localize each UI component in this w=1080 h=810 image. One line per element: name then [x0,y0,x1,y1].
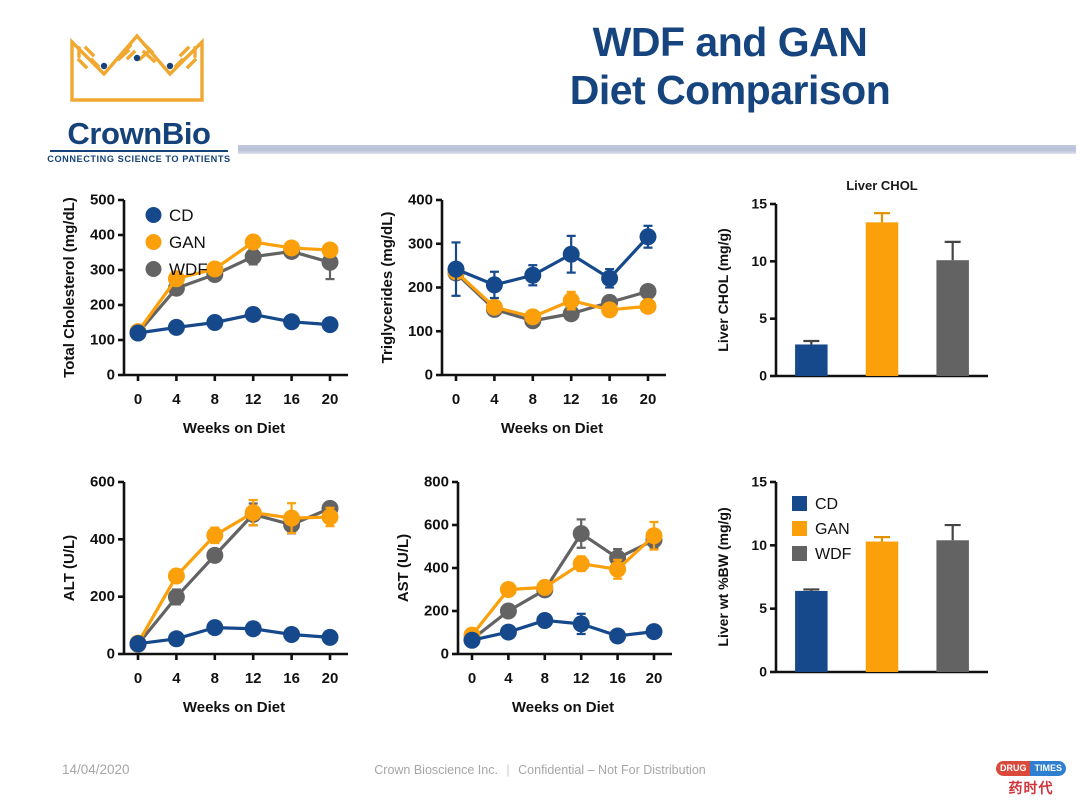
title-line-2: Diet Comparison [420,66,1040,114]
data-point [206,314,223,331]
chart-triglycerides: 0100200300400Triglycerides (mg/dL)048121… [376,186,676,441]
chart-total-cholesterol: 0100200300400500Total Cholesterol (mg/dL… [58,186,358,441]
logo-tagline: CONNECTING SCIENCE TO PATIENTS [30,154,248,164]
x-tick-label: 20 [640,391,657,408]
line-CD [456,237,648,285]
watermark-chinese: 药时代 [988,778,1074,798]
line-WDF [138,508,330,644]
x-tick-label: 16 [609,670,626,687]
data-point [245,248,262,265]
data-point [245,306,262,323]
data-point [322,629,339,646]
data-point [640,283,657,300]
data-point [206,260,223,277]
y-tick-label: 10 [751,537,767,553]
legend-swatch-WDF [792,546,807,561]
data-point [245,620,262,637]
y-tick-label: 0 [441,646,449,663]
line-GAN [456,272,648,317]
x-tick-label: 4 [172,670,181,687]
page-title: WDF and GAN Diet Comparison [420,18,1040,115]
crown-icon [62,22,212,117]
line-CD [138,314,330,333]
data-point [640,298,657,315]
x-tick-label: 12 [245,391,262,408]
y-tick-label: 600 [90,474,115,491]
footer-separator: | [506,763,509,777]
drugtimes-watermark: DRUGTIMES 药时代 [988,758,1074,798]
y-tick-label: 400 [424,560,449,577]
data-point [609,627,626,644]
x-tick-label: 16 [601,391,618,408]
plot-total-cholesterol: 0100200300400500Total Cholesterol (mg/dL… [58,186,358,441]
data-point [206,527,223,544]
title-line-1: WDF and GAN [420,18,1040,66]
data-point [563,246,580,263]
data-point [283,626,300,643]
data-point [283,510,300,527]
line-GAN [138,513,330,643]
legend-label-GAN: GAN [169,233,206,252]
y-tick-label: 400 [90,531,115,548]
data-point [573,555,590,572]
data-point [486,299,503,316]
x-tick-label: 0 [452,391,460,408]
x-tick-label: 0 [134,391,142,408]
x-axis-label: Weeks on Diet [183,420,285,437]
footer-confidentiality: Crown Bioscience Inc. | Confidential – N… [0,763,1080,777]
data-point [573,525,590,542]
data-point [640,228,657,245]
data-point [168,568,185,585]
data-point [448,261,465,278]
legend-label-CD: CD [815,496,838,513]
plot-ast: 0200400600800AST (U/L)048121620Weeks on … [392,468,682,720]
y-axis-label: Total Cholesterol (mg/dL) [61,197,78,378]
chart-liver-chol: Liver CHOL051015Liver CHOL (mg/g) [712,172,1002,400]
y-tick-label: 200 [90,297,115,314]
y-tick-label: 0 [425,367,433,384]
plot-liver-chol: Liver CHOL051015Liver CHOL (mg/g) [712,172,1002,400]
data-point [601,301,618,318]
x-tick-label: 4 [172,391,181,408]
y-tick-label: 200 [408,279,433,296]
logo-rule [50,150,228,152]
data-point [601,270,618,287]
data-point [524,308,541,325]
x-tick-label: 20 [646,670,663,687]
legend-label-WDF: WDF [169,260,208,279]
chart-liver-wt-bw: 051015Liver wt %BW (mg/g)CDGANWDF [712,468,1002,696]
x-tick-label: 8 [211,670,219,687]
data-point [322,242,339,259]
bar-GAN [866,222,899,376]
data-point [283,313,300,330]
data-point [322,508,339,525]
line-GAN [472,536,654,635]
watermark-times: TIMES [1030,761,1066,776]
data-point [609,561,626,578]
bar-WDF [936,260,969,376]
data-point [130,635,147,652]
logo-wordmark: CrownBio [44,118,234,149]
x-tick-label: 12 [245,670,262,687]
x-tick-label: 8 [211,391,219,408]
y-tick-label: 0 [107,646,115,663]
x-tick-label: 0 [468,670,476,687]
plot-liver-wt-bw: 051015Liver wt %BW (mg/g)CDGANWDF [712,468,1002,696]
data-point [573,615,590,632]
chart-ast: 0200400600800AST (U/L)048121620Weeks on … [392,468,682,720]
data-point [500,603,517,620]
y-axis-label: AST (U/L) [395,534,412,602]
data-point [245,504,262,521]
data-point [563,292,580,309]
data-point [245,234,262,251]
legend-label-GAN: GAN [815,521,850,538]
y-axis-label: ALT (U/L) [61,535,78,601]
data-point [206,547,223,564]
y-tick-label: 300 [408,235,433,252]
y-axis-label: Liver wt %BW (mg/g) [715,507,731,646]
legend-label-CD: CD [169,206,194,225]
x-axis-label: Weeks on Diet [512,699,614,716]
y-tick-label: 5 [759,600,767,616]
data-point [536,579,553,596]
y-tick-label: 0 [759,664,767,680]
y-tick-label: 800 [424,474,449,491]
x-tick-label: 20 [322,670,339,687]
y-tick-label: 100 [408,323,433,340]
x-tick-label: 12 [573,670,590,687]
x-tick-label: 16 [283,391,300,408]
y-tick-label: 15 [751,474,767,490]
x-tick-label: 4 [504,670,513,687]
x-tick-label: 20 [322,391,339,408]
x-tick-label: 8 [541,670,549,687]
y-tick-label: 0 [107,367,115,384]
data-point [168,319,185,336]
legend-swatch-GAN [792,521,807,536]
x-tick-label: 4 [490,391,499,408]
watermark-pill: DRUGTIMES [996,761,1066,776]
data-point [500,624,517,641]
y-axis-label: Liver CHOL (mg/g) [715,228,731,351]
data-point [168,630,185,647]
y-tick-label: 200 [90,588,115,605]
x-axis-label: Weeks on Diet [183,699,285,716]
y-tick-label: 600 [424,517,449,534]
legend-swatch-WDF [146,261,162,277]
bar-GAN [866,542,899,672]
y-tick-label: 5 [759,310,767,326]
y-axis-label: Triglycerides (mg/dL) [379,212,396,364]
chart-title: Liver CHOL [846,178,918,193]
x-axis-label: Weeks on Diet [501,420,603,437]
data-point [283,239,300,256]
data-point [130,325,147,342]
data-point [646,623,663,640]
y-tick-label: 15 [751,196,767,212]
legend-label-WDF: WDF [815,546,852,563]
plot-triglycerides: 0100200300400Triglycerides (mg/dL)048121… [376,186,676,441]
header-divider [238,145,1076,154]
bar-CD [795,591,828,672]
data-point [486,276,503,293]
plot-alt: 0200400600ALT (U/L)048121620Weeks on Die… [58,468,358,720]
data-point [206,619,223,636]
y-tick-label: 0 [759,368,767,384]
legend-swatch-CD [792,496,807,511]
data-point [524,267,541,284]
line-CD [138,628,330,644]
x-tick-label: 0 [134,670,142,687]
x-tick-label: 12 [563,391,580,408]
y-tick-label: 400 [90,227,115,244]
data-point [168,588,185,605]
data-point [322,316,339,333]
crownbio-logo: CrownBio CONNECTING SCIENCE TO PATIENTS [30,22,245,162]
footer-notice: Confidential – Not For Distribution [518,763,706,777]
data-point [464,632,481,649]
y-tick-label: 200 [424,603,449,620]
legend-swatch-GAN [146,234,162,250]
data-point [536,612,553,629]
slide: CrownBio CONNECTING SCIENCE TO PATIENTS … [0,0,1080,810]
x-tick-label: 8 [529,391,537,408]
footer-company: Crown Bioscience Inc. [374,763,498,777]
data-point [646,527,663,544]
watermark-drug: DRUG [996,761,1031,776]
bar-WDF [936,540,969,672]
bar-CD [795,344,828,376]
y-tick-label: 10 [751,253,767,269]
legend-swatch-CD [146,207,162,223]
line-CD [472,620,654,640]
y-tick-label: 400 [408,192,433,209]
y-tick-label: 100 [90,332,115,349]
x-tick-label: 16 [283,670,300,687]
data-point [500,581,517,598]
y-tick-label: 300 [90,262,115,279]
y-tick-label: 500 [90,192,115,209]
chart-alt: 0200400600ALT (U/L)048121620Weeks on Die… [58,468,358,720]
